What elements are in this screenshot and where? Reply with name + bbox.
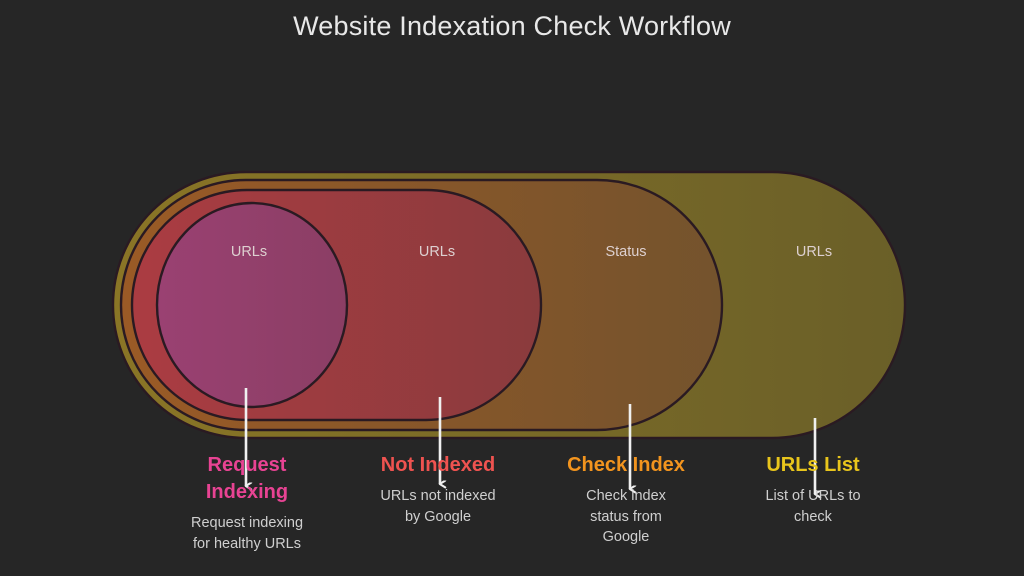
legend-title-check-index: Check Index (535, 452, 717, 479)
legend-not-indexed[interactable]: Not Indexed URLs not indexed by Google (347, 452, 529, 527)
diagram-canvas: Website Indexation Check Workflow (0, 0, 1024, 576)
ring-label-not-indexed: URLs (419, 244, 455, 260)
legend-description-urls-list: List of URLs to check (722, 486, 904, 527)
legend-urls-list[interactable]: URLs List List of URLs to check (722, 452, 904, 527)
ring-request-indexing[interactable]: URLs (157, 203, 347, 407)
legend-title-request-indexing: Request Indexing (156, 452, 338, 506)
ring-shape-request-indexing[interactable] (157, 203, 347, 407)
ring-label-urls-list: URLs (796, 244, 832, 260)
legend-title-urls-list: URLs List (722, 452, 904, 479)
legend-request-indexing[interactable]: Request Indexing Request indexing for he… (156, 452, 338, 554)
legend-description-request-indexing: Request indexing for healthy URLs (156, 513, 338, 554)
ring-label-check-index: Status (605, 244, 646, 260)
legend-title-not-indexed: Not Indexed (347, 452, 529, 479)
legend-description-not-indexed: URLs not indexed by Google (347, 486, 529, 527)
ring-label-request-indexing: URLs (231, 244, 267, 260)
legend-check-index[interactable]: Check Index Check index status from Goog… (535, 452, 717, 548)
legend-description-check-index: Check index status from Google (535, 486, 717, 548)
